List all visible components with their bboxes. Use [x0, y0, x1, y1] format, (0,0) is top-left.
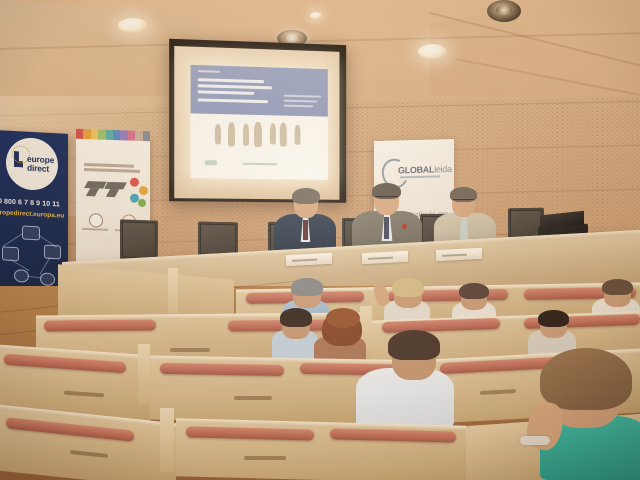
projection-screen-frame: [169, 39, 346, 203]
glasses-icon: [375, 196, 398, 201]
bench-divider: [160, 408, 174, 472]
bench-handle-slot: [234, 396, 272, 400]
slide-figure: [243, 124, 249, 146]
conference-hall-photo: europe direct 00 800 6 7 8 9 10 11 europ…: [0, 0, 640, 480]
slide-figure: [215, 124, 221, 144]
downlight-icon: [118, 18, 148, 33]
color-swatch: [113, 130, 120, 140]
network-diagram-icon: [0, 222, 66, 291]
bench-cushion: [160, 363, 284, 376]
slide-footer-mark: [243, 163, 277, 166]
downlight-icon: [418, 44, 447, 59]
banner-title-line: [84, 163, 134, 167]
bracelet: [520, 436, 550, 445]
empty-chair: [120, 219, 158, 260]
abstract-logo-icon: [86, 177, 126, 200]
slide-figure: [254, 122, 262, 147]
globalleida-wordmark: GLOBALleida: [398, 164, 452, 175]
slide-figure: [295, 125, 301, 145]
slide-footer-mark: [205, 160, 217, 165]
bench-handle-slot: [244, 456, 286, 460]
institution-seal-icon: [89, 213, 103, 227]
slide-figure: [270, 123, 276, 144]
bench-divider: [138, 344, 150, 404]
spotlight-icon: [487, 0, 521, 22]
presentation-slide: [191, 65, 328, 180]
color-swatch-strip: [76, 129, 150, 142]
globalleida-tagline-line: [400, 175, 440, 178]
color-swatch: [128, 131, 135, 141]
color-swatch: [91, 129, 98, 139]
slide-figure: [228, 122, 235, 146]
bench-cushion: [44, 320, 156, 332]
color-swatch: [106, 130, 113, 140]
logo-dot-icon: [138, 199, 146, 207]
logo-dot-icon: [130, 178, 139, 187]
banner-caption-line: [82, 228, 108, 231]
color-swatch: [120, 130, 127, 140]
europe-direct-logo: europe direct: [6, 137, 58, 192]
color-swatch: [98, 129, 105, 139]
projection-screen: [174, 46, 339, 200]
glasses-icon: [453, 199, 474, 204]
logo-dot-icon: [139, 186, 148, 195]
europe-direct-word-direct: direct: [27, 163, 49, 174]
color-swatch: [135, 131, 142, 141]
color-swatch: [76, 129, 83, 139]
slide-figure: [280, 122, 287, 146]
color-swatch: [83, 129, 90, 139]
downlight-icon: [310, 12, 322, 19]
banner-title-line: [84, 168, 140, 172]
europe-direct-url: europedirect.europa.eu: [0, 209, 64, 220]
bench-handle-slot: [170, 348, 210, 352]
europe-direct-phone: 00 800 6 7 8 9 10 11: [0, 198, 60, 208]
color-swatch: [143, 131, 150, 141]
